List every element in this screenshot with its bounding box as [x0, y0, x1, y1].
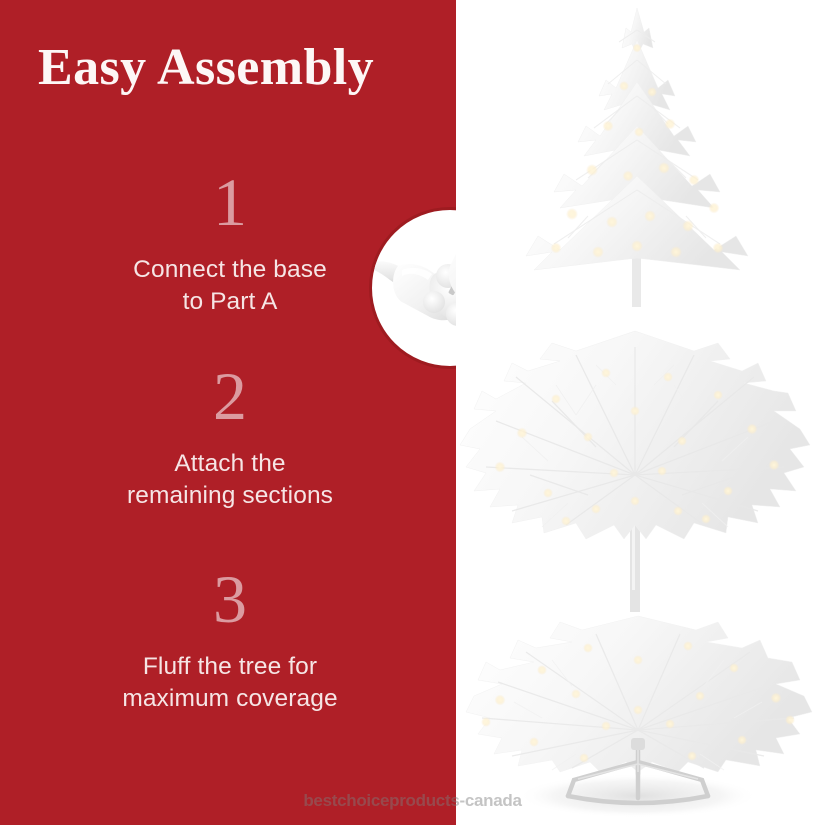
- tree-bottom-with-stand-illustration: [456, 590, 825, 825]
- step-3-number: 3: [18, 565, 442, 633]
- assembly-step-2: 2 Attach the remaining sections: [18, 362, 442, 512]
- tree-middle-section-illustration: [456, 325, 825, 590]
- stand-collar: [631, 738, 645, 750]
- product-image-bottom-section-with-stand: [456, 590, 825, 825]
- product-image-full-tree: [456, 0, 825, 325]
- step-3-line-1: Fluff the tree for: [18, 651, 442, 683]
- step-2-text: Attach the remaining sections: [18, 448, 442, 512]
- full-white-tree-illustration: [456, 0, 825, 325]
- page-title: Easy Assembly: [38, 38, 438, 98]
- infographic-canvas: Easy Assembly 1 Connect the base to Part…: [0, 0, 825, 825]
- step-2-number: 2: [18, 362, 442, 430]
- step-2-line-1: Attach the: [18, 448, 442, 480]
- product-image-middle-section: [456, 325, 825, 590]
- step-3-line-2: maximum coverage: [18, 683, 442, 715]
- assembly-step-3: 3 Fluff the tree for maximum coverage: [18, 565, 442, 715]
- step-3-text: Fluff the tree for maximum coverage: [18, 651, 442, 715]
- step-2-line-2: remaining sections: [18, 480, 442, 512]
- left-red-panel: Easy Assembly 1 Connect the base to Part…: [0, 0, 456, 825]
